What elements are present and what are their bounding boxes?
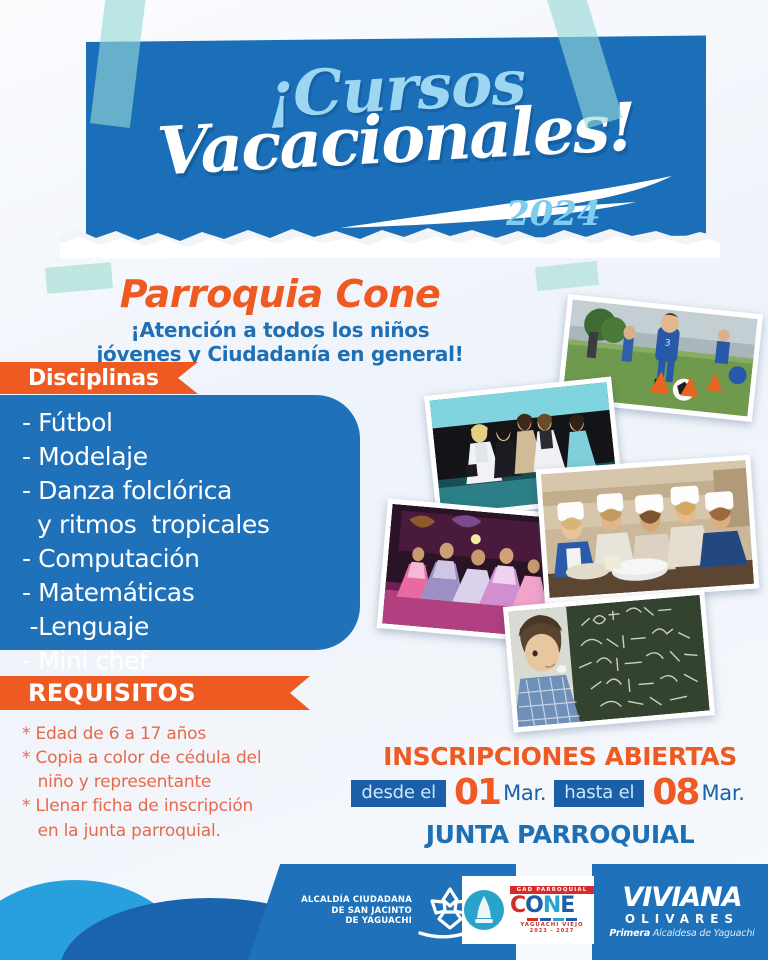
page-title: Parroquia Cone [0, 272, 560, 316]
photo-math-image [508, 595, 709, 727]
registration-office: JUNTA PARROQUIAL [352, 820, 768, 849]
list-item: - Computación [22, 542, 372, 576]
requirements-list: * Edad de 6 a 17 años * Copia a color de… [22, 722, 352, 843]
to-label-chip: hasta el [554, 780, 644, 807]
list-item: niño y representante [22, 770, 352, 794]
logo-alcaldia-text: ALCALDÍA CIUDADANA DE SAN JACINTO DE YAG… [262, 895, 412, 927]
list-item: - Modelaje [22, 440, 372, 474]
list-item: - Danza folclórica [22, 474, 372, 508]
logo-mayor-firstname: VIVIANA [604, 884, 760, 911]
header-content: ¡Cursos Vacacionales! 2024 [86, 42, 706, 242]
logo-mayor-lastname: OLIVARES [604, 911, 760, 928]
parish-subtitle-line1: ¡Atención a todos los niños [0, 318, 560, 342]
list-item: y ritmos tropicales [22, 508, 372, 542]
logo-mayor-role-bold: Primera [609, 928, 650, 939]
logo-alcaldia-line1: ALCALDÍA CIUDADANA [262, 895, 412, 906]
list-item: en la junta parroquial. [22, 819, 352, 843]
logo-cone-name: CONE [510, 894, 594, 917]
parish-subtitle: ¡Atención a todos los niños jóvenes y Ci… [0, 318, 560, 367]
requirements-band: REQUISITOS [0, 676, 290, 710]
from-month: Mar. [503, 783, 554, 804]
poster-root: ¡Cursos Vacacionales! 2024 Parroquia Con… [0, 0, 768, 960]
logo-mayor-role: Primera Alcaldesa de Yaguachi [604, 928, 760, 939]
list-item: * Copia a color de cédula del [22, 746, 352, 770]
from-day: 01 [446, 775, 503, 811]
logo-alcaldia-line3: DE YAGUACHI [262, 916, 412, 927]
photo-math [503, 589, 715, 732]
logo-mayor-role-rest: Alcaldesa de Yaguachi [650, 928, 755, 939]
list-item: * Edad de 6 a 17 años [22, 722, 352, 746]
registration-dates: desde el 01 Mar. hasta el 08 Mar. [336, 776, 768, 810]
disciplines-band: Disciplinas [0, 362, 178, 394]
disciplines-list: - Fútbol - Modelaje - Danza folclórica y… [22, 406, 372, 678]
to-month: Mar. [701, 783, 752, 804]
list-item: - Matemáticas [22, 576, 372, 610]
list-item: -Lenguaje [22, 610, 372, 644]
from-label-chip: desde el [351, 780, 446, 807]
cone-bell-icon [462, 888, 506, 932]
list-item: - Mini chef [22, 644, 372, 678]
logo-alcaldia-line2: DE SAN JACINTO [262, 906, 412, 917]
svg-text:3: 3 [664, 338, 671, 349]
photo-chef-image [541, 460, 754, 598]
logo-cone-color-bars [510, 918, 594, 921]
disciplines-band-label: Disciplinas [0, 366, 159, 391]
torn-paper-edge [60, 224, 720, 258]
to-day: 08 [644, 775, 701, 811]
header-title-group: ¡Cursos Vacacionales! [86, 42, 706, 242]
photo-chef [536, 455, 760, 604]
logo-cone: GAD PARROQUIAL CONE YAGUACHI VIEJO 2023 … [462, 876, 594, 944]
list-item: * Llenar ficha de inscripción [22, 794, 352, 818]
registration-title: INSCRIPCIONES ABIERTAS [352, 742, 768, 771]
requirements-band-label: REQUISITOS [0, 679, 196, 707]
logo-mayor: VIVIANA OLIVARES Primera Alcaldesa de Ya… [604, 884, 760, 942]
logo-cone-period: 2023 - 2027 [510, 928, 594, 934]
list-item: - Fútbol [22, 406, 372, 440]
